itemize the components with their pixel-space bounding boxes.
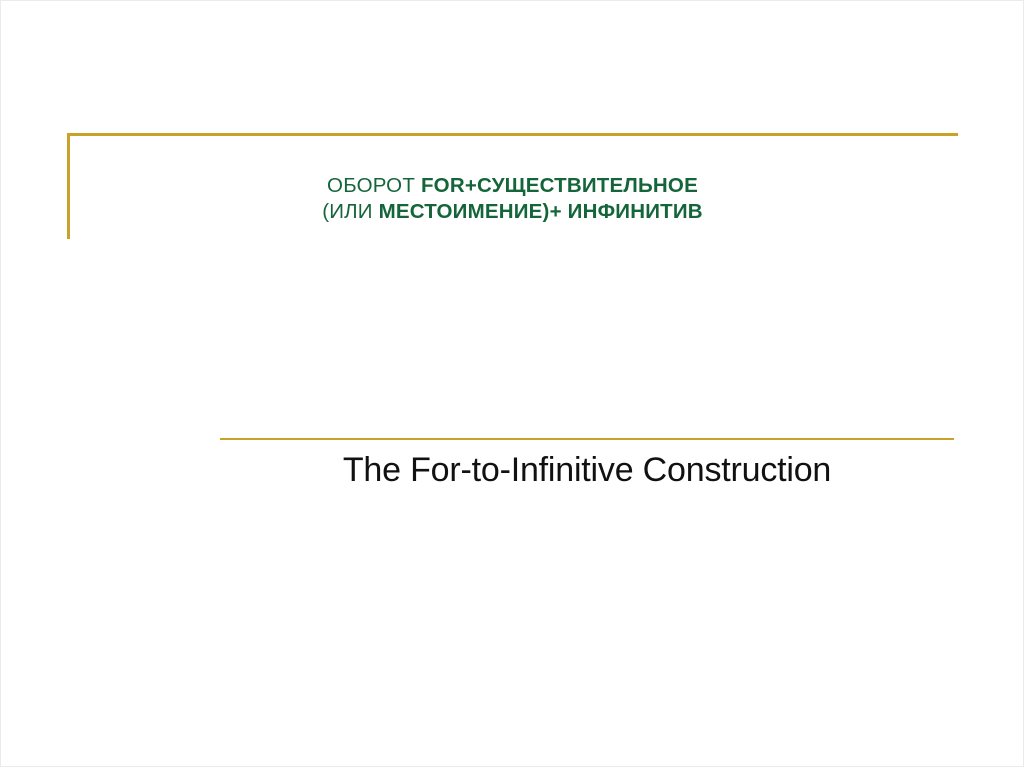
title-line-1-regular: ОБОРОТ — [327, 174, 421, 197]
title-line-2: (ИЛИ МЕСТОИМЕНИЕ)+ ИНФИНИТИВ — [67, 199, 958, 225]
title-line-1: ОБОРОТ FOR+СУЩЕСТВИТЕЛЬНОЕ — [67, 173, 958, 199]
slide-subtitle: The For-to-Infinitive Construction — [220, 451, 954, 490]
title-line-1-bold: FOR+СУЩЕСТВИТЕЛЬНОЕ — [421, 174, 698, 197]
title-line-2-regular: (ИЛИ — [322, 200, 378, 223]
subtitle-divider — [220, 438, 954, 440]
presentation-slide: ОБОРОТ FOR+СУЩЕСТВИТЕЛЬНОЕ (ИЛИ МЕСТОИМЕ… — [0, 0, 1024, 767]
gold-bracket-top-line — [67, 133, 958, 136]
slide-title: ОБОРОТ FOR+СУЩЕСТВИТЕЛЬНОЕ (ИЛИ МЕСТОИМЕ… — [67, 173, 958, 225]
title-line-2-bold: МЕСТОИМЕНИЕ)+ ИНФИНИТИВ — [379, 200, 703, 223]
subtitle-text: The For-to-Infinitive Construction — [343, 451, 831, 490]
